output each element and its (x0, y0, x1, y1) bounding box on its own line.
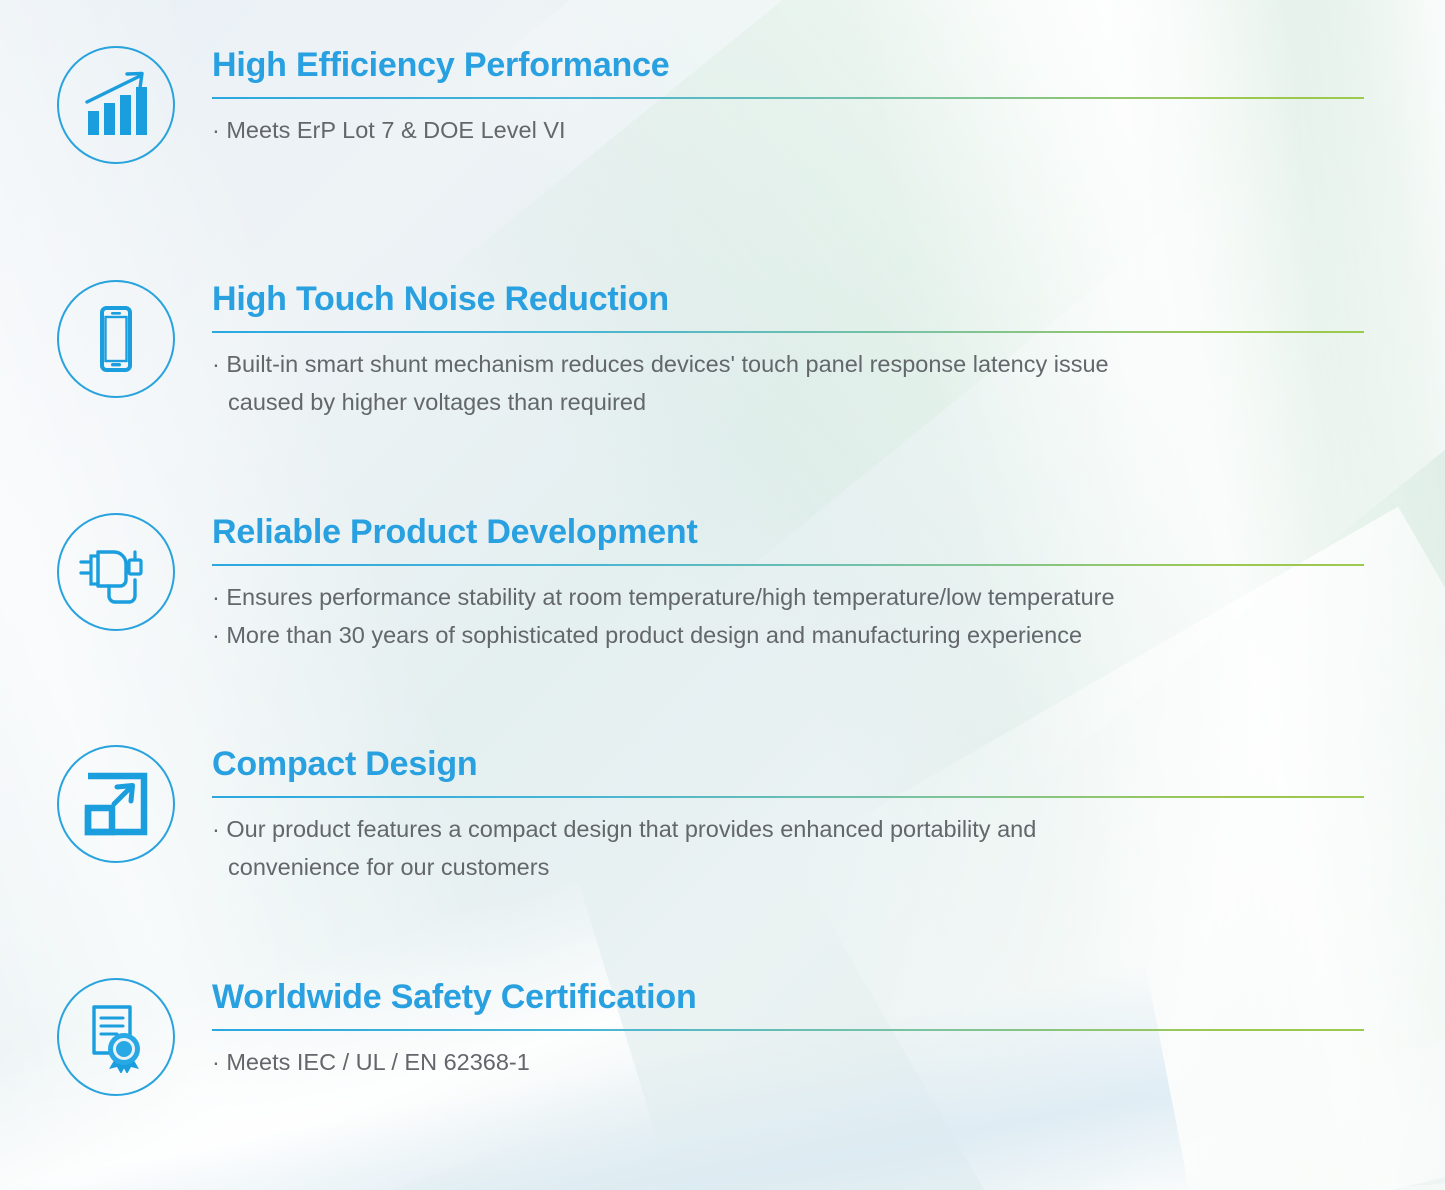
feature-text-column: High Touch Noise Reduction · Built-in sm… (212, 280, 1445, 421)
feature-divider (212, 331, 1364, 333)
icon-circle-border (57, 513, 175, 631)
feature-icon-wrapper (52, 46, 180, 164)
feature-item-high-efficiency-performance: High Efficiency Performance · Meets ErP … (0, 46, 1445, 164)
compact-resize-icon (80, 768, 152, 840)
feature-text-column: Compact Design · Our product features a … (212, 745, 1445, 886)
feature-title: Reliable Product Development (212, 515, 1445, 549)
feature-title: High Efficiency Performance (212, 48, 1445, 82)
bullet-line: · Our product features a compact design … (212, 810, 1445, 848)
smartphone-icon (78, 301, 154, 377)
feature-bullets: · Ensures performance stability at room … (212, 578, 1445, 654)
feature-bullets: · Meets IEC / UL / EN 62368-1 (212, 1043, 1445, 1081)
certificate-award-icon (80, 1001, 152, 1073)
feature-icon-wrapper (52, 280, 180, 398)
feature-item-worldwide-safety-certification: Worldwide Safety Certification · Meets I… (0, 978, 1445, 1096)
feature-divider (212, 564, 1364, 566)
feature-icon-wrapper (52, 513, 180, 631)
feature-divider (212, 1029, 1364, 1031)
feature-poster: High Efficiency Performance · Meets ErP … (0, 0, 1445, 1190)
bullet-line: · More than 30 years of sophisticated pr… (212, 616, 1445, 654)
feature-text-column: Reliable Product Development · Ensures p… (212, 513, 1445, 654)
icon-circle-border (57, 978, 175, 1096)
feature-bullets: · Built-in smart shunt mechanism reduces… (212, 345, 1445, 421)
feature-bullets: · Meets ErP Lot 7 & DOE Level VI (212, 111, 1445, 149)
feature-divider (212, 796, 1364, 798)
bullet-line-continuation: caused by higher voltages than required (212, 383, 1445, 421)
feature-item-compact-design: Compact Design · Our product features a … (0, 745, 1445, 886)
icon-circle-border (57, 46, 175, 164)
bullet-line: · Meets IEC / UL / EN 62368-1 (212, 1043, 1445, 1081)
feature-bullets: · Our product features a compact design … (212, 810, 1445, 886)
feature-text-column: Worldwide Safety Certification · Meets I… (212, 978, 1445, 1081)
icon-circle-border (57, 745, 175, 863)
feature-icon-wrapper (52, 745, 180, 863)
feature-text-column: High Efficiency Performance · Meets ErP … (212, 46, 1445, 149)
bullet-line: · Ensures performance stability at room … (212, 578, 1445, 616)
bullet-line: · Built-in smart shunt mechanism reduces… (212, 345, 1445, 383)
feature-icon-wrapper (52, 978, 180, 1096)
bullet-line-continuation: convenience for our customers (212, 848, 1445, 886)
bar-chart-growth-icon (78, 67, 154, 143)
icon-circle-border (57, 280, 175, 398)
feature-title: High Touch Noise Reduction (212, 282, 1445, 316)
feature-divider (212, 97, 1364, 99)
bullet-line: · Meets ErP Lot 7 & DOE Level VI (212, 111, 1445, 149)
feature-title: Compact Design (212, 747, 1445, 781)
feature-item-high-touch-noise-reduction: High Touch Noise Reduction · Built-in sm… (0, 280, 1445, 421)
feature-title: Worldwide Safety Certification (212, 980, 1445, 1014)
feature-item-reliable-product-development: Reliable Product Development · Ensures p… (0, 513, 1445, 654)
power-adapter-icon (76, 534, 156, 610)
